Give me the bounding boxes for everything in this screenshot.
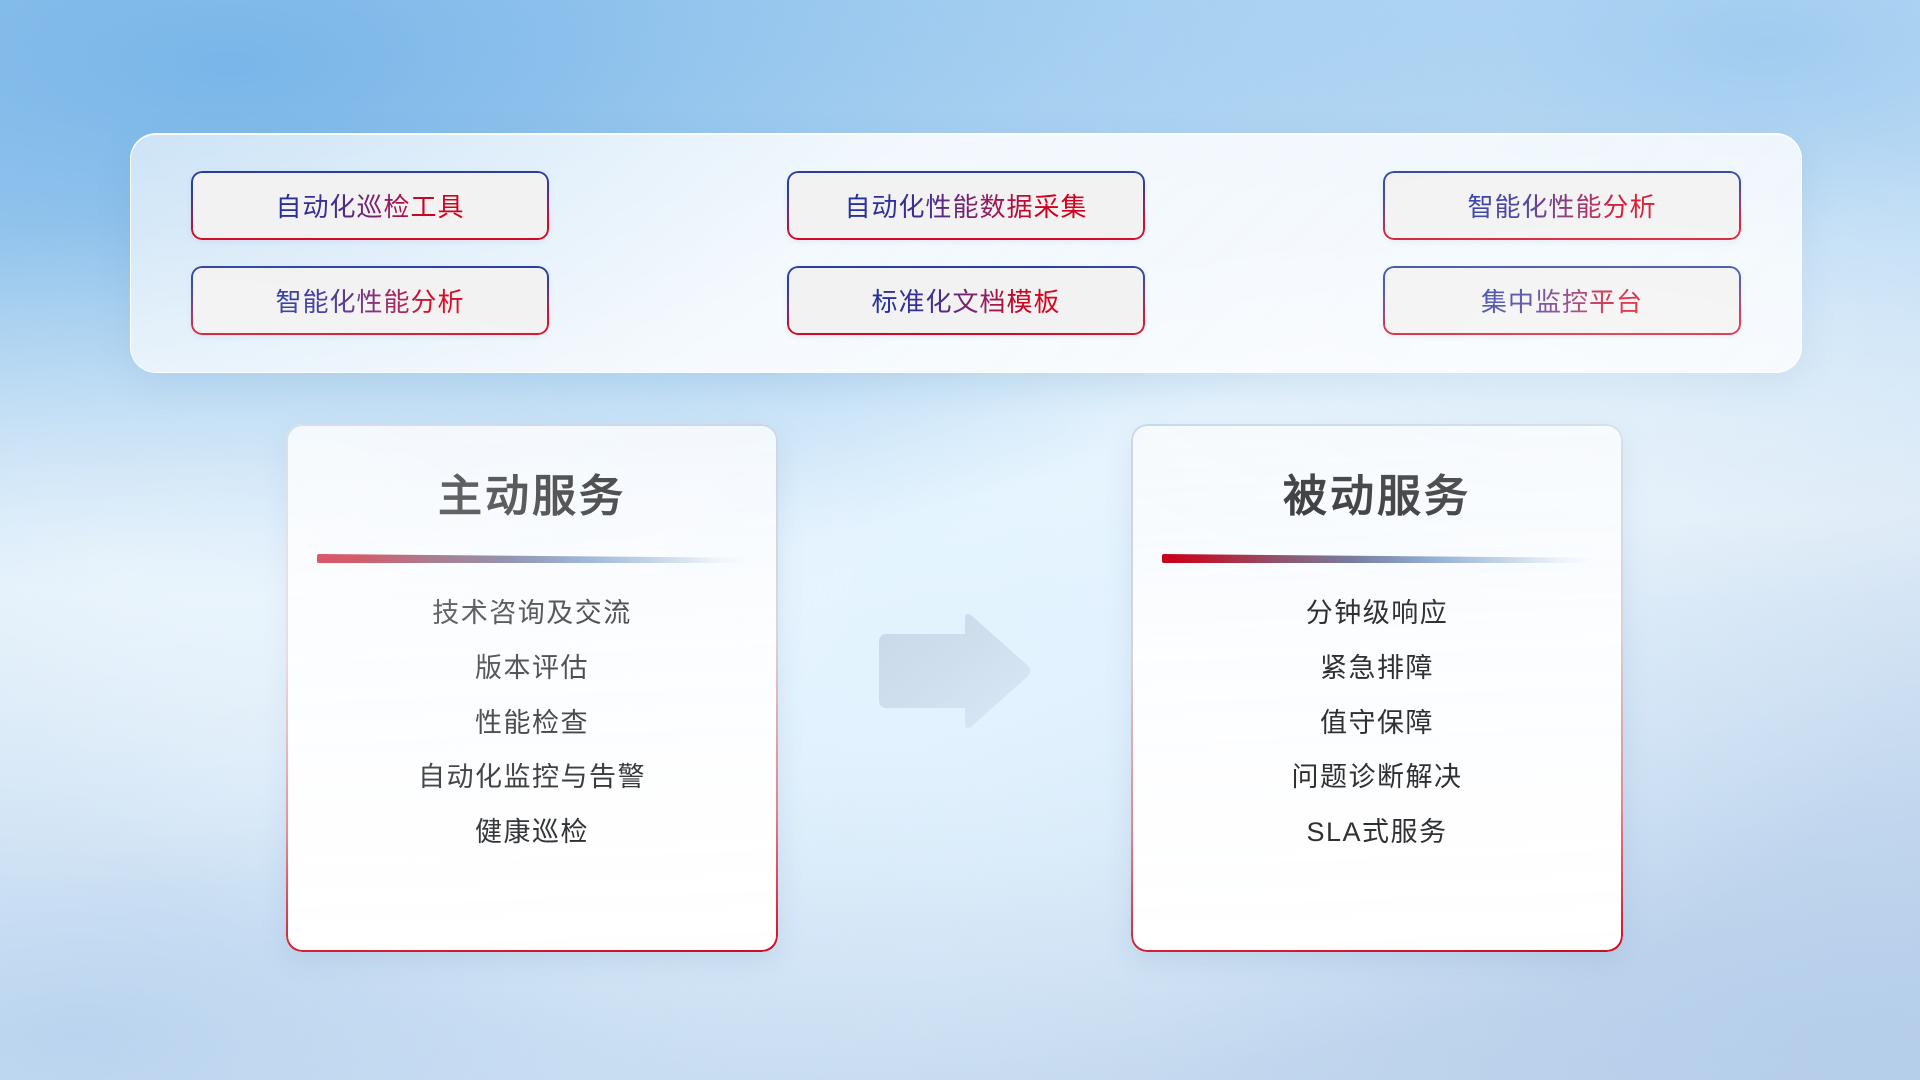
capability-pill[interactable]: 标准化文档模板: [787, 266, 1145, 335]
capability-pill[interactable]: 自动化性能数据采集: [787, 171, 1145, 240]
capability-pill-label: 标准化文档模板: [871, 282, 1060, 319]
card-list: 分钟级响应 紧急排障 值守保障 问题诊断解决 SLA式服务: [1131, 597, 1623, 850]
card-divider-bar: [1162, 554, 1592, 563]
list-item: 紧急排障: [1320, 652, 1434, 686]
list-item: 问题诊断解决: [1292, 761, 1463, 795]
capability-pill-label: 智能化性能分析: [275, 282, 464, 319]
capability-pill[interactable]: 自动化巡检工具: [191, 171, 549, 240]
card-divider: [317, 554, 747, 563]
list-item: 分钟级响应: [1306, 597, 1449, 631]
capability-row-1: 自动化巡检工具 自动化性能数据采集 智能化性能分析: [191, 171, 1741, 240]
capability-panel: 自动化巡检工具 自动化性能数据采集 智能化性能分析 智能化性能分析 标准化文档模…: [130, 133, 1802, 373]
card-title: 被动服务: [1131, 460, 1623, 524]
list-item: SLA式服务: [1306, 816, 1447, 850]
list-item: 健康巡检: [475, 816, 589, 850]
card-list: 技术咨询及交流 版本评估 性能检查 自动化监控与告警 健康巡检: [286, 597, 778, 850]
capability-pill[interactable]: 智能化性能分析: [1383, 171, 1741, 240]
list-item: 值守保障: [1320, 707, 1434, 741]
right-arrow-icon: [873, 612, 1033, 732]
list-item: 性能检查: [475, 707, 589, 741]
card-title: 主动服务: [286, 460, 778, 524]
list-item: 版本评估: [475, 652, 589, 686]
capability-pill-label: 自动化性能数据采集: [844, 187, 1087, 224]
capability-pill-label: 智能化性能分析: [1467, 187, 1656, 224]
slide-canvas: 自动化巡检工具 自动化性能数据采集 智能化性能分析 智能化性能分析 标准化文档模…: [0, 0, 1920, 1080]
service-card-passive: 被动服务 分钟级响应 紧急排障 值守保障 问题诊断解决 SLA式服务: [1131, 424, 1623, 952]
capability-pill[interactable]: 集中监控平台: [1383, 266, 1741, 335]
capability-pill[interactable]: 智能化性能分析: [191, 266, 549, 335]
service-card-active: 主动服务 技术咨询及交流 版本评估 性能检查 自动化监控与告警 健康巡检: [286, 424, 778, 952]
list-item: 技术咨询及交流: [432, 597, 632, 631]
card-divider-bar: [317, 554, 747, 563]
capability-pill-label: 自动化巡检工具: [275, 187, 464, 224]
list-item: 自动化监控与告警: [418, 761, 646, 795]
capability-pill-label: 集中监控平台: [1481, 282, 1643, 319]
capability-row-2: 智能化性能分析 标准化文档模板 集中监控平台: [191, 266, 1741, 335]
card-divider: [1162, 554, 1592, 563]
